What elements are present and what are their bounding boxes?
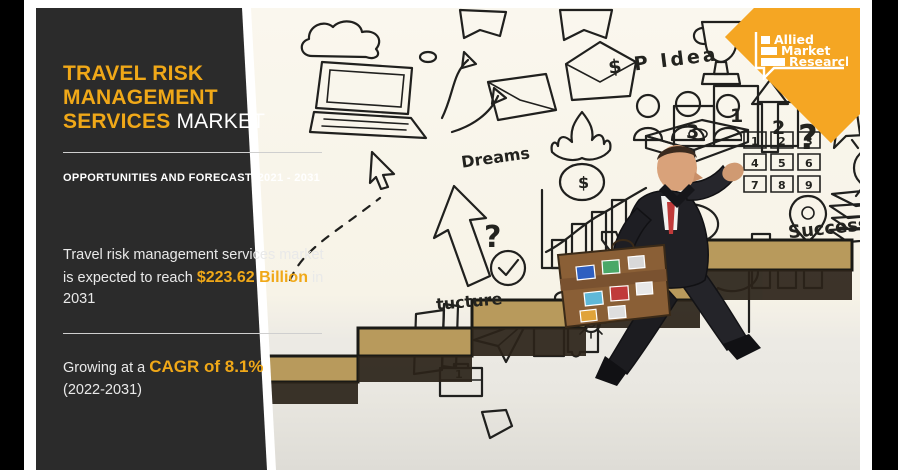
text-content-block: TRAVEL RISK MANAGEMENT SERVICES MARKET O… [63, 62, 338, 401]
matte-right [860, 0, 872, 470]
question-mark-doodle-2: ? [484, 220, 501, 255]
divider-wrap [63, 333, 338, 334]
logo-mark: Allied Market Research [752, 28, 848, 80]
cagr-stat: Growing at a CAGR of 8.1% (2022-2031) [63, 356, 338, 401]
banner-screen: $ 1 3 2 [0, 0, 898, 470]
page-title: TRAVEL RISK MANAGEMENT SERVICES MARKET [63, 62, 338, 134]
svg-text:5: 5 [778, 157, 786, 170]
suitcase-with-flag-stickers [554, 233, 672, 333]
green-ribbon-doodle [454, 8, 514, 46]
title-line-3-highlight: SERVICES [63, 110, 170, 133]
svg-text:6: 6 [805, 157, 813, 170]
svg-text:8: 8 [778, 179, 786, 192]
market-stat: Travel risk management services market i… [63, 245, 338, 311]
svg-text:9: 9 [805, 179, 813, 192]
cagr-value: CAGR of 8.1% [149, 357, 263, 376]
matte-left [24, 0, 36, 470]
title-line-3-plain: MARKET [176, 110, 265, 133]
stat-amount: $223.62 Billion [197, 269, 308, 286]
title-line-1: TRAVEL RISK [63, 62, 203, 85]
divider-top [63, 152, 322, 153]
market-report-banner: $ 1 3 2 [36, 8, 860, 470]
subtitle: OPPORTUNITIES AND FORECAST, 2021 - 2031 [63, 169, 338, 187]
letterbox-bar-left [0, 0, 24, 470]
letterbox-bar-right [872, 0, 898, 470]
divider-bottom [63, 333, 322, 334]
matte-top [24, 0, 872, 8]
title-line-2: MANAGEMENT [63, 86, 218, 109]
cagr-period: (2022-2031) [63, 382, 142, 398]
allied-market-research-logo[interactable]: Allied Market Research [710, 8, 860, 158]
cagr-lead-text: Growing at a [63, 360, 145, 376]
logo-line-3: Research [789, 54, 848, 69]
